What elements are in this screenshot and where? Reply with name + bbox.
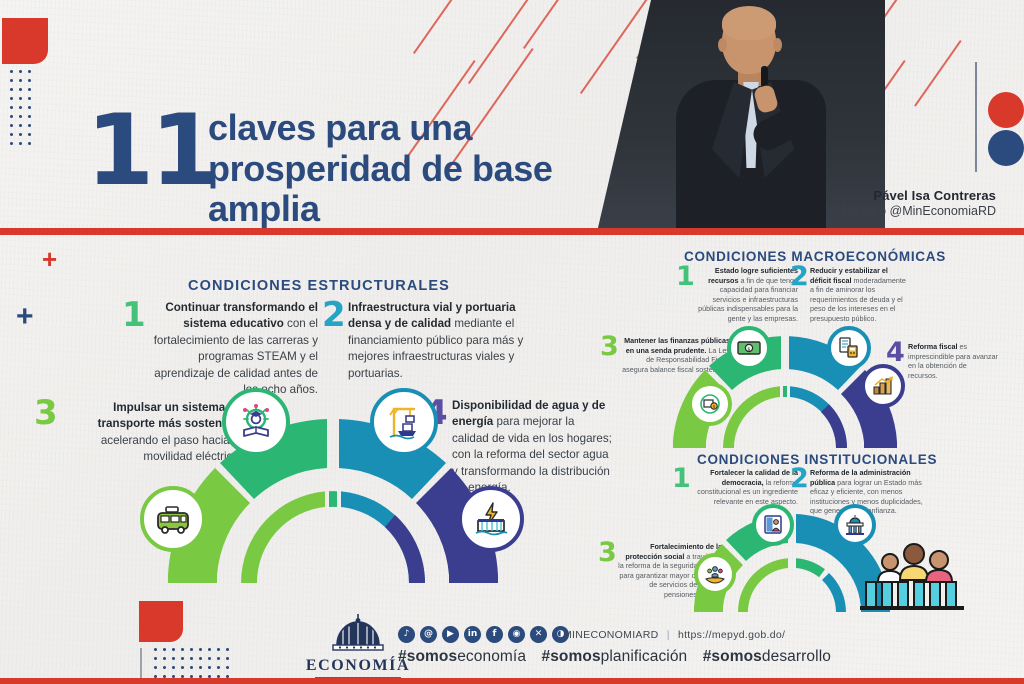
vertical-line-decoration-bottom [140,648,142,682]
header-red-rule [0,228,1024,235]
government-building-icon [843,513,867,537]
linkedin-icon[interactable]: in [464,626,481,643]
tiktok-icon[interactable]: ♪ [398,626,415,643]
ministry-logo: ECONOMÍA [302,612,414,680]
page-title: claves para una prosperidad de base ampl… [208,108,588,230]
social-protection-hand-icon [703,562,727,586]
section-heading-institutional: CONDICIONES INSTITUCIONALES [697,452,937,467]
structural-item-2-number: 2 [322,302,346,329]
infographic-page: 11 claves para una prosperidad de base a… [0,0,1024,684]
electric-bus-icon [153,499,193,539]
education-gear-icon [236,402,276,442]
port-crane-ship-icon [384,402,424,442]
hydro-dam-energy-icon [471,499,511,539]
macro-item-2: 2 Reducir y estabilizar el déficit fisca… [790,266,910,323]
hashtags: #somoseconomía #somosplanificación #somo… [398,648,842,666]
headline-number: 11 [86,106,214,196]
dot-grid-decoration-left [10,70,31,145]
structural-item-1-number: 1 [122,302,146,329]
money-bill-icon: $ [736,335,762,361]
footer-red-rule [0,678,1024,684]
calculator-documents-icon [836,335,862,361]
icon-bubble-calculator [827,326,871,370]
handle-separator: | [667,629,670,641]
icon-bubble-voting [752,504,794,546]
speaker-role: Ministro @MinEconomiaRD [842,204,996,218]
plus-decoration-red: + [42,246,57,272]
blue-circle-decoration [988,130,1024,166]
macro-item-1-number: 1 [676,266,695,288]
social-links[interactable]: ♪ @ ▶ in f ◉ ✕ ◑ [398,626,569,643]
red-square-decoration-top [2,18,48,64]
ministry-handle-line: MINECONOMIARD | https://mepyd.gob.do/ [563,629,785,641]
vertical-line-decoration-right [975,62,977,172]
institutional-item-2-number: 2 [790,468,809,490]
public-finance-icon: $ [697,391,723,417]
institutional-item-3-number: 3 [598,542,617,564]
youtube-icon[interactable]: ▶ [442,626,459,643]
hashtag-1: #somoseconomía [398,648,526,665]
icon-bubble-bus [140,486,206,552]
instagram-icon[interactable]: ◉ [508,626,525,643]
red-square-decoration-bottom [139,601,183,642]
plus-decoration-blue: + [16,302,34,332]
icon-bubble-education [222,388,290,456]
svg-text:$: $ [713,404,716,409]
icon-bubble-port [370,388,438,456]
structural-item-2: 2 Infraestructura vial y portuaria densa… [322,300,524,382]
voting-booth-icon [761,513,785,537]
speaker-photo [660,0,860,232]
structural-item-3-number: 3 [34,400,58,427]
macro-item-1: 1 Estado logre suficientes recursos a fi… [676,266,798,323]
ministry-website[interactable]: https://mepyd.gob.do/ [678,629,785,641]
threads-icon[interactable]: @ [420,626,437,643]
hashtag-3: #somosdesarrollo [703,648,831,665]
red-circle-decoration [988,92,1024,128]
growth-chart-coins-icon [870,373,896,399]
hashtag-2: #somosplanificación [541,648,687,665]
icon-bubble-money: $ [727,326,771,370]
icon-bubble-energy [458,486,524,552]
x-twitter-icon[interactable]: ✕ [530,626,547,643]
section-heading-macro: CONDICIONES MACROECONÓMICAS [684,249,946,264]
facebook-icon[interactable]: f [486,626,503,643]
section-heading-structural: CONDICIONES ESTRUCTURALES [188,278,450,294]
ministry-handle: MINECONOMIARD [563,629,658,641]
community-bars-graphic [854,540,974,612]
macro-item-3-number: 3 [600,336,619,358]
speaker-name: Pável Isa Contreras [842,188,996,203]
icon-bubble-growth [861,364,905,408]
svg-text:$: $ [747,347,750,353]
icon-bubble-public-finance: $ [688,382,732,426]
icon-bubble-social-protection [694,553,736,595]
speaker-credit: Pável Isa Contreras Ministro @MinEconomi… [842,188,996,218]
macro-item-2-number: 2 [790,266,809,288]
institutional-item-1-number: 1 [672,468,691,490]
dot-grid-decoration-bottom [154,648,229,678]
structural-item-2-text: Infraestructura vial y portuaria densa y… [322,300,524,382]
